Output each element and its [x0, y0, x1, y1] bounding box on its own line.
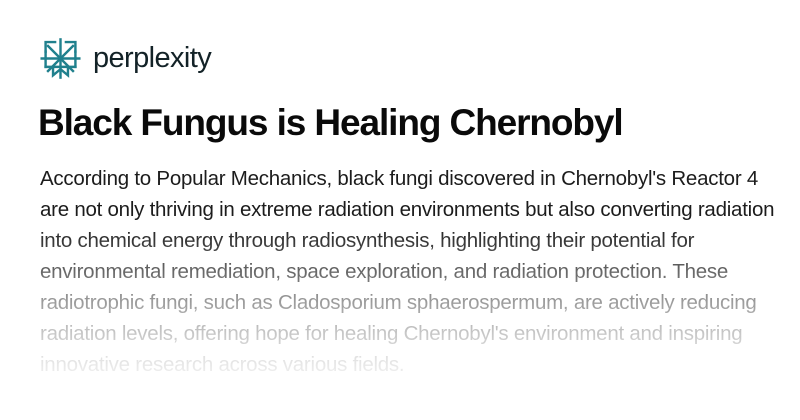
perplexity-logo-icon [40, 38, 81, 79]
article-card: perplexity Black Fungus is Healing Chern… [0, 0, 800, 420]
article-body-container: According to Popular Mechanics, black fu… [40, 163, 775, 380]
article-title: Black Fungus is Healing Chernobyl [38, 102, 766, 144]
article-body-text: According to Popular Mechanics, black fu… [40, 163, 775, 380]
perplexity-wordmark: perplexity [93, 44, 211, 73]
perplexity-brand-header[interactable]: perplexity [40, 38, 766, 78]
